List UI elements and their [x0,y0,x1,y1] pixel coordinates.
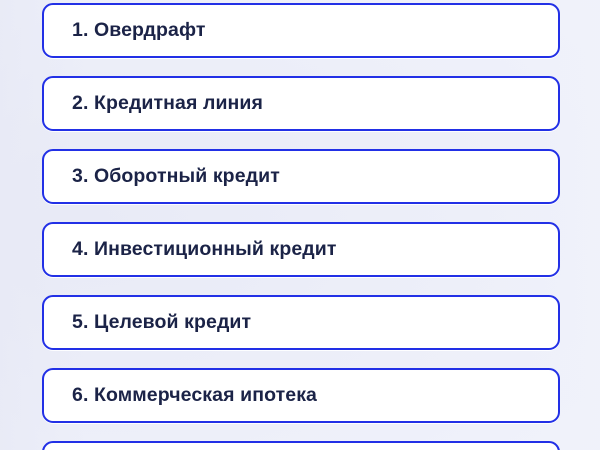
list-item-label: 6. Коммерческая ипотека [44,385,333,406]
list-item-label: 4. Инвестиционный кредит [44,239,353,260]
list-item[interactable]: 2. Кредитная линия [42,76,560,131]
list-item-label: 5. Целевой кредит [44,312,267,333]
list-item[interactable]: 6. Коммерческая ипотека [42,368,560,423]
list-item-label: 2. Кредитная линия [44,93,279,114]
screen-root: 1. Овердрафт 2. Кредитная линия 3. Оборо… [0,0,600,450]
list-item[interactable]: 5. Целевой кредит [42,295,560,350]
list-item[interactable]: 3. Оборотный кредит [42,149,560,204]
list-item-label: 3. Оборотный кредит [44,166,296,187]
list-item[interactable]: 4. Инвестиционный кредит [42,222,560,277]
credit-products-list: 1. Овердрафт 2. Кредитная линия 3. Оборо… [0,0,600,450]
list-item-label: 1. Овердрафт [44,20,222,41]
list-item[interactable]: 1. Овердрафт [42,3,560,58]
list-item[interactable] [42,441,560,450]
